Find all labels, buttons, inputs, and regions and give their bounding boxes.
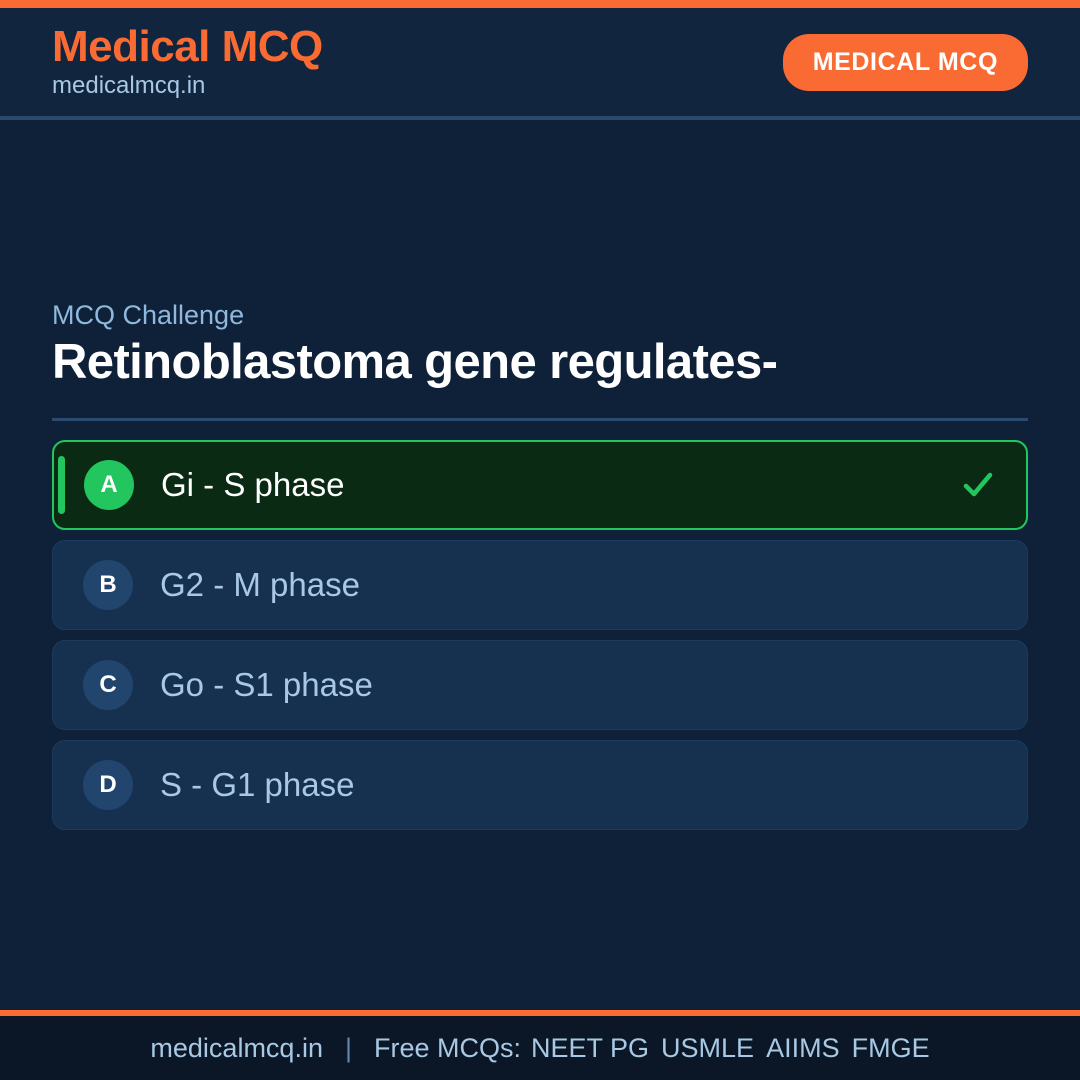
footer-exam-aiims[interactable]: AIIMS	[766, 1033, 840, 1064]
option-label: G2 - M phase	[160, 566, 360, 604]
option-letter-badge: C	[83, 660, 133, 710]
footer-exam-usmle[interactable]: USMLE	[661, 1033, 754, 1064]
option-letter-badge: B	[83, 560, 133, 610]
page-header: Medical MCQ medicalmcq.in MEDICAL MCQ	[0, 8, 1080, 120]
option-item-c[interactable]: C Go - S1 phase	[52, 640, 1028, 730]
header-badge: MEDICAL MCQ	[783, 34, 1028, 91]
option-letter-badge: D	[83, 760, 133, 810]
check-icon	[960, 467, 996, 503]
page-footer: medicalmcq.in | Free MCQs: NEET PG USMLE…	[0, 1016, 1080, 1080]
brand-title: Medical MCQ	[52, 24, 323, 70]
brand-subtitle: medicalmcq.in	[52, 72, 323, 101]
brand: Medical MCQ medicalmcq.in	[52, 24, 323, 101]
poster-root: Medical MCQ medicalmcq.in MEDICAL MCQ MC…	[0, 0, 1080, 1080]
option-item-d[interactable]: D S - G1 phase	[52, 740, 1028, 830]
top-accent-bar	[0, 0, 1080, 8]
footer-label: Free MCQs:	[374, 1033, 521, 1064]
option-item-b[interactable]: B G2 - M phase	[52, 540, 1028, 630]
option-label: S - G1 phase	[160, 766, 354, 804]
options-list: A Gi - S phase B G2 - M phase C Go - S1 …	[52, 440, 1028, 830]
option-item-a[interactable]: A Gi - S phase	[52, 440, 1028, 530]
footer-content: medicalmcq.in | Free MCQs: NEET PG USMLE…	[150, 1033, 929, 1064]
title-divider	[52, 418, 1028, 421]
correct-accent-bar	[58, 456, 65, 514]
option-label: Go - S1 phase	[160, 666, 373, 704]
option-label: Gi - S phase	[161, 466, 344, 504]
footer-exam-fmge[interactable]: FMGE	[852, 1033, 930, 1064]
footer-site-link[interactable]: medicalmcq.in	[150, 1033, 323, 1064]
option-letter-badge: A	[84, 460, 134, 510]
eyebrow-label: MCQ Challenge	[52, 300, 1028, 331]
main-content: MCQ Challenge Retinoblastoma gene regula…	[0, 120, 1080, 1010]
footer-exam-neet-pg[interactable]: NEET PG	[531, 1033, 649, 1064]
question-title: Retinoblastoma gene regulates-	[52, 335, 1028, 390]
footer-separator: |	[345, 1033, 352, 1064]
